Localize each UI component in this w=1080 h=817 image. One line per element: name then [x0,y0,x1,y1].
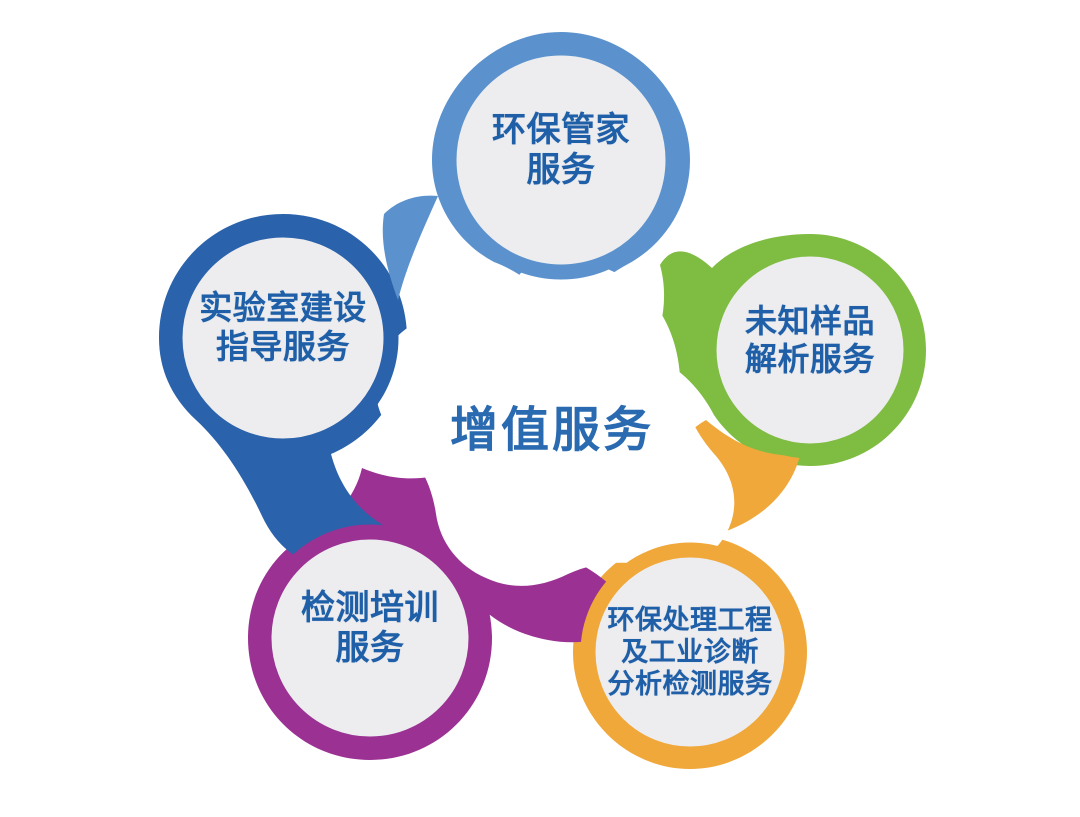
node-circle-right[interactable] [709,249,911,451]
node-circle-top[interactable] [449,48,673,272]
node-circle-bottom-right[interactable] [588,550,792,754]
node-circle-left[interactable] [175,230,391,446]
diagram-canvas: 环保管家 服务 未知样品 解析服务 环保处理工程 及工业诊断 分析检测服务 检测… [0,0,1080,817]
node-circle-bottom-left[interactable] [264,532,476,744]
flower-diagram-svg [0,0,1080,817]
